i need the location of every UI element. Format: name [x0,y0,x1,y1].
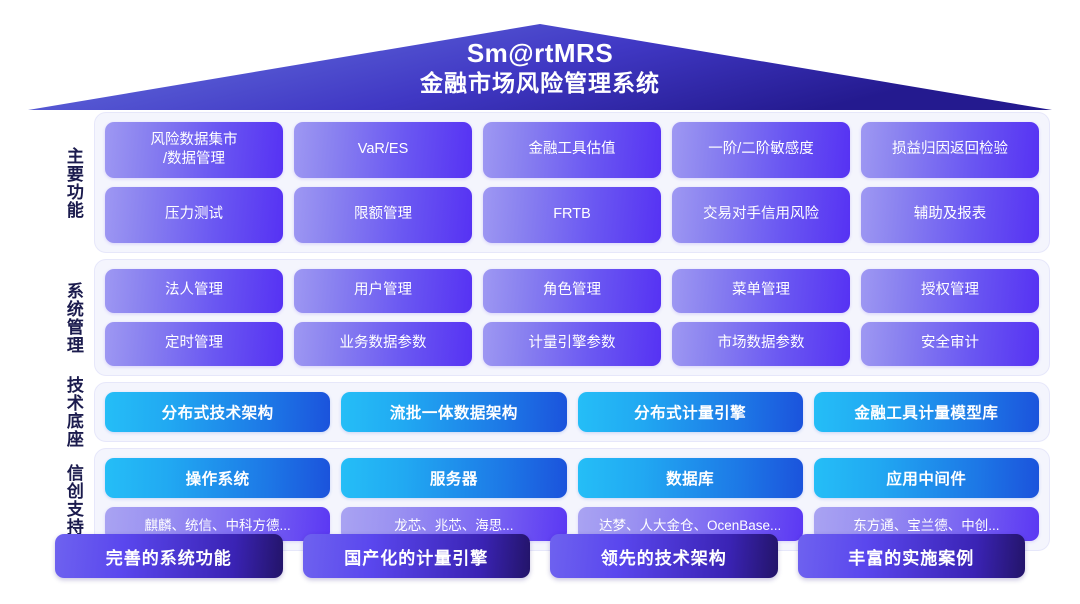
function-card-label: FRTB [553,205,591,224]
system-card-label: 法人管理 [165,281,223,300]
highlight-banner[interactable]: 丰富的实施案例 [798,534,1026,578]
header-roof: Sm@rtMRS 金融市场风险管理系统 [0,0,1080,112]
section-label-main-functions: 主要功能 [56,112,90,253]
panel-system-management: 法人管理 用户管理 角色管理 菜单管理 授权管理 定时管理 业务数据参数 计量引… [94,259,1050,376]
system-card-label: 安全审计 [921,334,979,353]
system-card[interactable]: 业务数据参数 [294,322,472,366]
section-tech-foundation: 技术底座 分布式技术架构 流批一体数据架构 分布式计量引擎 金融工具计量模型库 [0,382,1080,442]
function-card[interactable]: 限额管理 [294,187,472,243]
function-card[interactable]: 金融工具估值 [483,122,661,178]
section-label-text: 主要功能 [64,147,82,219]
system-card-label: 业务数据参数 [340,334,427,353]
section-label-text: 技术底座 [64,376,82,448]
system-card[interactable]: 法人管理 [105,269,283,313]
function-row-1: 风险数据集市/数据管理 VaR/ES 金融工具估值 一阶/二阶敏感度 损益归因返… [105,122,1039,178]
system-row-2: 定时管理 业务数据参数 计量引擎参数 市场数据参数 安全审计 [105,322,1039,366]
tech-card[interactable]: 分布式计量引擎 [578,392,803,432]
xinchuang-vendor-label: 达梦、人大金仓、OcenBase... [599,514,781,534]
function-card-label: 损益归因返回检验 [892,140,1008,159]
function-card-label: VaR/ES [358,140,409,159]
section-label-tech-foundation: 技术底座 [56,382,90,442]
function-card[interactable]: 压力测试 [105,187,283,243]
section-label-text: 系统管理 [64,282,82,354]
function-card[interactable]: 风险数据集市/数据管理 [105,122,283,178]
function-card-label: 压力测试 [165,205,223,224]
highlight-banner-label: 领先的技术架构 [601,544,727,569]
function-card[interactable]: 交易对手信用风险 [672,187,850,243]
roof-shape [0,0,1080,112]
tech-card[interactable]: 金融工具计量模型库 [814,392,1039,432]
system-card[interactable]: 安全审计 [861,322,1039,366]
highlight-banner[interactable]: 领先的技术架构 [550,534,778,578]
tech-card-label: 流批一体数据架构 [390,401,518,423]
system-row-1: 法人管理 用户管理 角色管理 菜单管理 授权管理 [105,269,1039,313]
tech-row: 分布式技术架构 流批一体数据架构 分布式计量引擎 金融工具计量模型库 [105,392,1039,432]
xinchuang-category-label: 服务器 [430,467,478,489]
tech-card-label: 金融工具计量模型库 [854,401,998,423]
highlight-banner-label: 国产化的计量引擎 [344,544,488,569]
tech-card-label: 分布式计量引擎 [634,401,746,423]
xinchuang-category-card[interactable]: 数据库 [578,458,803,498]
system-card-label: 市场数据参数 [718,334,805,353]
function-card[interactable]: 一阶/二阶敏感度 [672,122,850,178]
function-card[interactable]: VaR/ES [294,122,472,178]
function-card[interactable]: 损益归因返回检验 [861,122,1039,178]
xinchuang-vendor-label: 东方通、宝兰德、中创... [853,514,999,534]
section-system-management: 系统管理 法人管理 用户管理 角色管理 菜单管理 授权管理 定时管理 业务数据参… [0,259,1080,376]
xinchuang-category-label: 应用中间件 [886,467,966,489]
system-card-label: 定时管理 [165,334,223,353]
system-card[interactable]: 用户管理 [294,269,472,313]
section-label-text: 信创支持 [64,464,82,536]
architecture-stack: 主要功能 风险数据集市/数据管理 VaR/ES 金融工具估值 一阶/二阶敏感度 … [0,112,1080,551]
xinchuang-category-label: 数据库 [666,467,714,489]
section-label-system-management: 系统管理 [56,259,90,376]
panel-tech-foundation: 分布式技术架构 流批一体数据架构 分布式计量引擎 金融工具计量模型库 [94,382,1050,442]
system-card[interactable]: 角色管理 [483,269,661,313]
xinchuang-header-row: 操作系统 服务器 数据库 应用中间件 [105,458,1039,498]
highlight-banner-label: 丰富的实施案例 [848,544,974,569]
xinchuang-vendor-label: 龙芯、兆芯、海思... [394,514,513,534]
function-row-2: 压力测试 限额管理 FRTB 交易对手信用风险 辅助及报表 [105,187,1039,243]
highlight-banner[interactable]: 国产化的计量引擎 [303,534,531,578]
system-card-label: 用户管理 [354,281,412,300]
system-card-label: 角色管理 [543,281,601,300]
function-card-label: 一阶/二阶敏感度 [708,140,814,159]
function-card-label: 金融工具估值 [529,140,616,159]
xinchuang-vendor-label: 麒麟、统信、中科方德... [144,514,290,534]
system-card[interactable]: 定时管理 [105,322,283,366]
function-card-label: 限额管理 [354,205,412,224]
xinchuang-category-label: 操作系统 [186,467,250,489]
function-card[interactable]: FRTB [483,187,661,243]
highlight-banner-row: 完善的系统功能 国产化的计量引擎 领先的技术架构 丰富的实施案例 [0,534,1080,578]
system-card[interactable]: 计量引擎参数 [483,322,661,366]
highlight-banner-label: 完善的系统功能 [106,544,232,569]
system-card[interactable]: 菜单管理 [672,269,850,313]
system-card[interactable]: 授权管理 [861,269,1039,313]
section-main-functions: 主要功能 风险数据集市/数据管理 VaR/ES 金融工具估值 一阶/二阶敏感度 … [0,112,1080,253]
tech-card[interactable]: 流批一体数据架构 [341,392,566,432]
function-card-label: 交易对手信用风险 [703,205,819,224]
tech-card-label: 分布式技术架构 [162,401,274,423]
system-card-label: 菜单管理 [732,281,790,300]
highlight-banner[interactable]: 完善的系统功能 [55,534,283,578]
tech-card[interactable]: 分布式技术架构 [105,392,330,432]
xinchuang-category-card[interactable]: 操作系统 [105,458,330,498]
function-card-label: 辅助及报表 [914,205,987,224]
xinchuang-category-card[interactable]: 服务器 [341,458,566,498]
panel-main-functions: 风险数据集市/数据管理 VaR/ES 金融工具估值 一阶/二阶敏感度 损益归因返… [94,112,1050,253]
function-card-label: 风险数据集市/数据管理 [151,131,238,169]
xinchuang-category-card[interactable]: 应用中间件 [814,458,1039,498]
system-card[interactable]: 市场数据参数 [672,322,850,366]
system-card-label: 授权管理 [921,281,979,300]
function-card[interactable]: 辅助及报表 [861,187,1039,243]
system-card-label: 计量引擎参数 [529,334,616,353]
